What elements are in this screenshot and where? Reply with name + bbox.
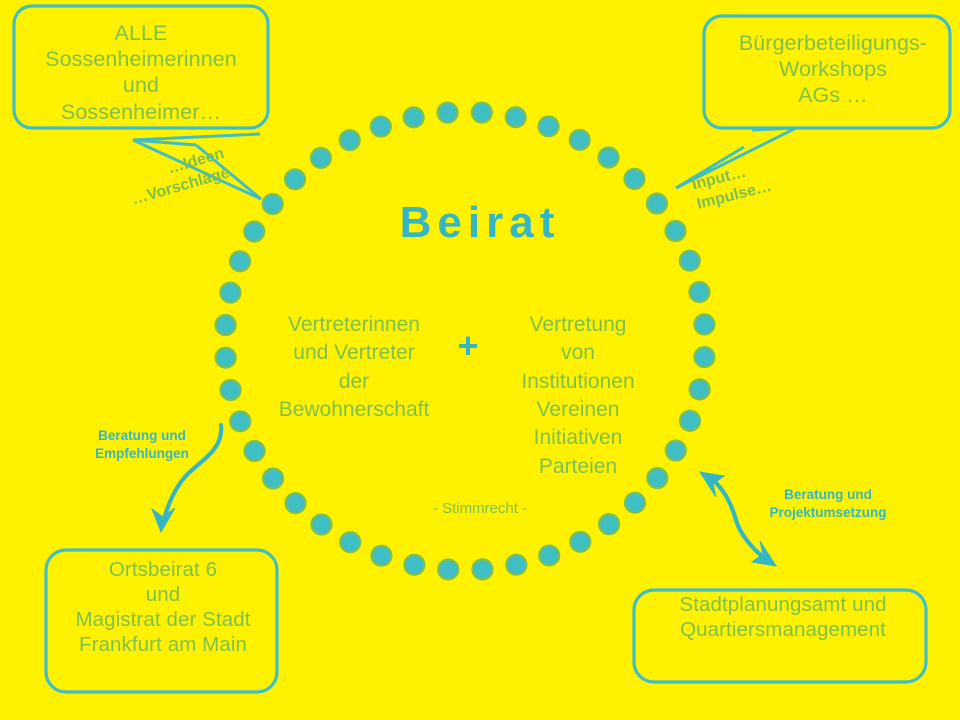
callout-top-left-tail-upper xyxy=(133,134,260,145)
arrow-beirat-to-ortsbeirat xyxy=(152,425,221,532)
ring-dot xyxy=(340,532,360,552)
ring-dot xyxy=(263,194,283,214)
ring-dot xyxy=(666,440,686,460)
arrow-bottom-right-head-down xyxy=(752,541,776,566)
ring-dot xyxy=(438,559,458,579)
ring-dot xyxy=(539,545,559,565)
arrow-bottom-left-shaft xyxy=(164,425,221,519)
ring-dot xyxy=(506,555,526,575)
callout-top-left[interactable] xyxy=(14,6,268,199)
ring-dot xyxy=(404,107,424,127)
ring-dot xyxy=(539,116,559,136)
callout-top-right-tail xyxy=(676,128,796,188)
ring-dot xyxy=(220,283,240,303)
ring-dot xyxy=(680,251,700,271)
ring-dot xyxy=(570,532,590,552)
ring-dot xyxy=(694,314,714,334)
callout-top-right[interactable] xyxy=(676,16,950,188)
ring-dot xyxy=(286,493,306,513)
ring-dot xyxy=(263,468,283,488)
ring-dot xyxy=(438,103,458,123)
box-bottom-right-body xyxy=(634,590,926,682)
diagram-canvas: ALLE Sossenheimerinnen und Sossenheimer…… xyxy=(0,0,960,720)
ring-dot xyxy=(311,515,331,535)
ring-dot xyxy=(244,222,264,242)
ring-dot xyxy=(472,559,492,579)
ring-dot xyxy=(472,103,492,123)
ring-dot xyxy=(216,348,236,368)
ring-dot xyxy=(340,130,360,150)
ring-dot xyxy=(665,221,685,241)
callout-top-right-body xyxy=(704,16,950,128)
ring-dot xyxy=(230,411,250,431)
ring-dot xyxy=(690,379,710,399)
ring-dot xyxy=(221,380,241,400)
arrow-bottom-left-head xyxy=(152,508,175,532)
ring-dot xyxy=(285,169,305,189)
arrow-beirat-to-stadtplanungsamt xyxy=(700,472,776,566)
ring-dot xyxy=(625,493,645,513)
ring-dot xyxy=(216,315,236,335)
ring-dot xyxy=(506,107,526,127)
ring-dot xyxy=(245,441,265,461)
ring-dot xyxy=(647,194,667,214)
ring-dot xyxy=(680,411,700,431)
ring-dot xyxy=(694,347,714,367)
ring-dot xyxy=(624,169,644,189)
box-bottom-right[interactable] xyxy=(634,590,926,682)
arrow-bottom-right-head-up xyxy=(700,472,724,497)
ring-dot xyxy=(371,546,391,566)
ring-dot xyxy=(599,514,619,534)
ring-dot xyxy=(599,147,619,167)
ring-dot xyxy=(647,468,667,488)
ring-dot xyxy=(404,555,424,575)
ring-dot xyxy=(689,282,709,302)
callout-top-left-tail xyxy=(133,140,261,199)
ring-dot xyxy=(311,148,331,168)
arrow-bottom-right-shaft xyxy=(714,481,762,556)
ring-dot xyxy=(570,130,590,150)
dotted-circle-ring xyxy=(216,103,715,580)
box-bottom-left[interactable] xyxy=(46,550,277,692)
callout-top-left-body xyxy=(14,6,268,128)
ring-dot xyxy=(230,251,250,271)
diagram-vector-layer xyxy=(0,0,960,720)
box-bottom-left-body xyxy=(46,550,277,692)
ring-dot xyxy=(371,117,391,137)
